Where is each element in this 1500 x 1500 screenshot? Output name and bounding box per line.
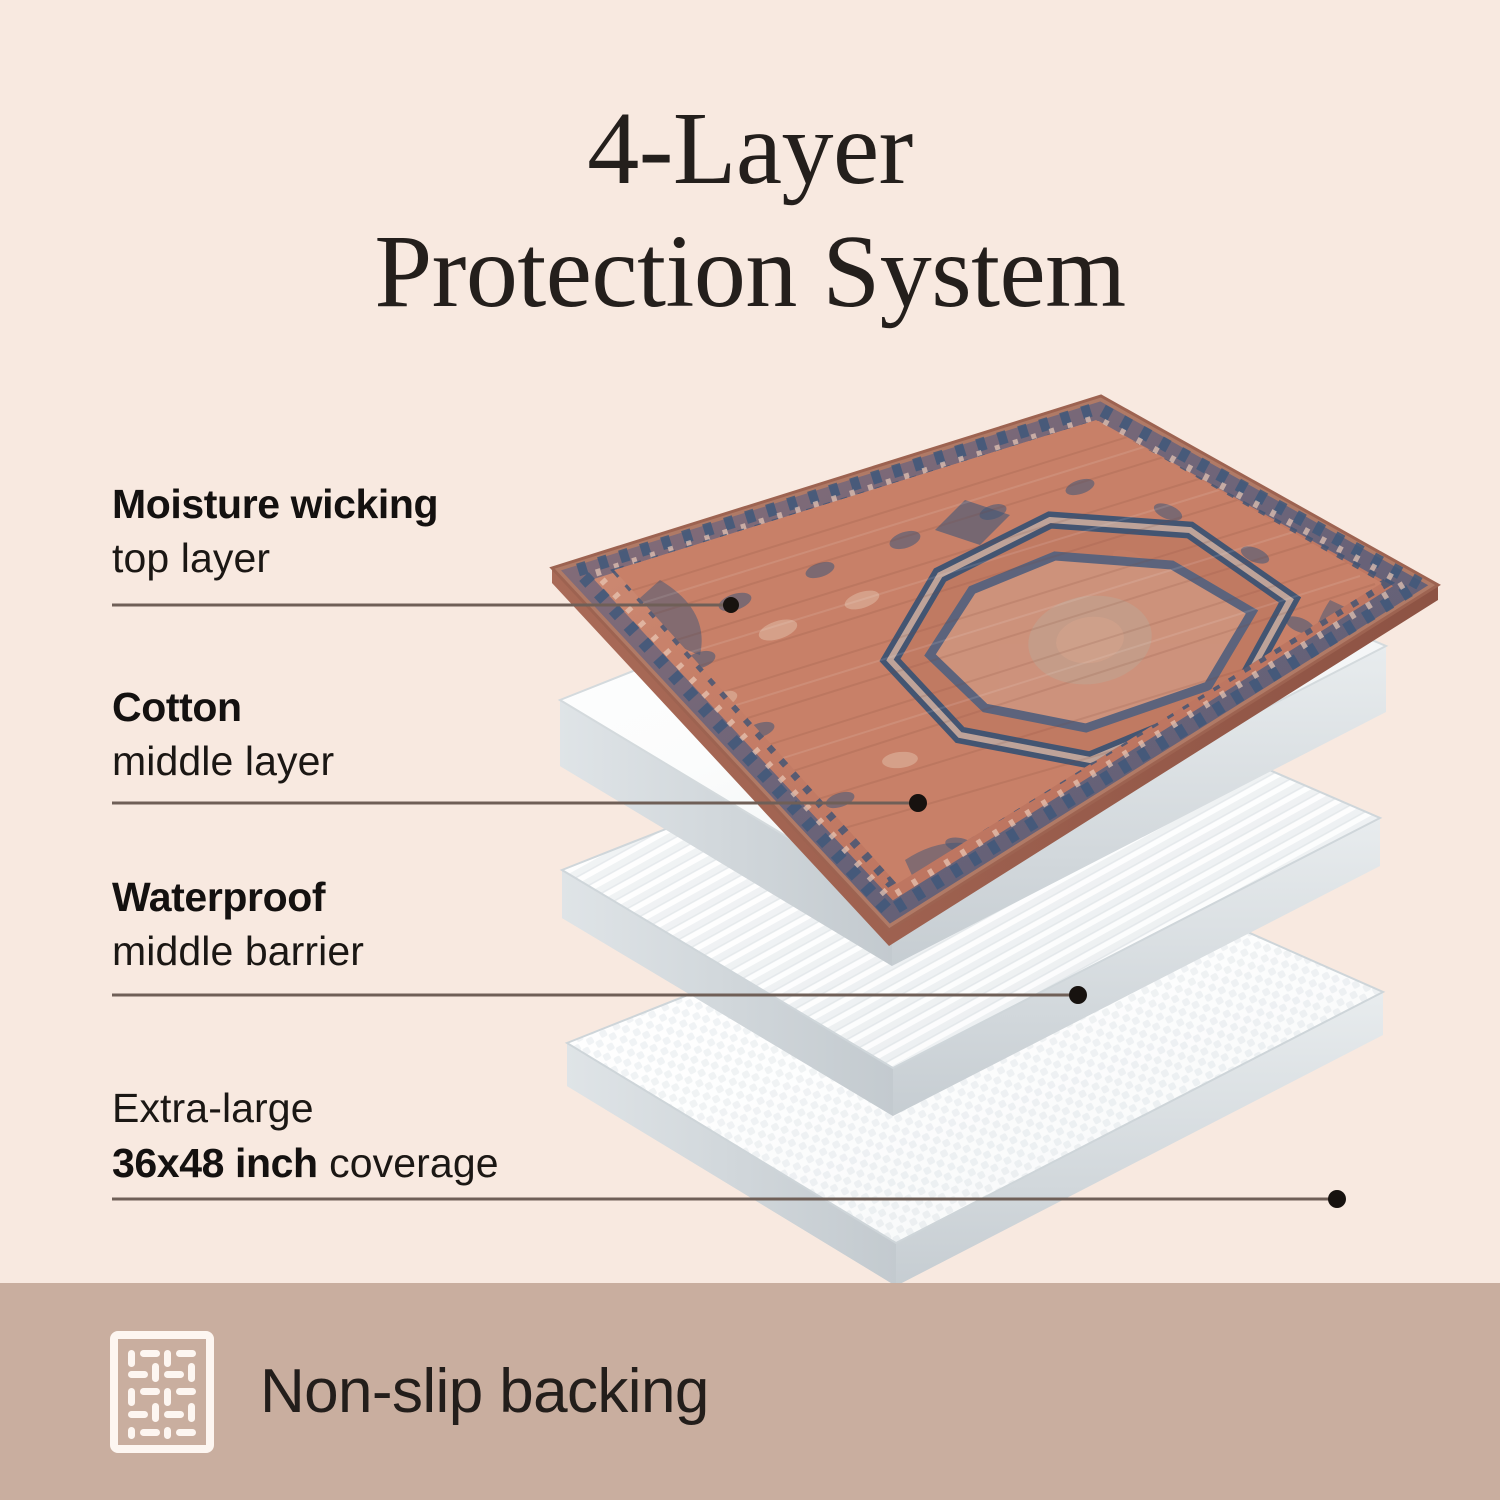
leader-line-moisture-wicking <box>112 597 739 613</box>
callout-extra-large: Extra-large 36x48 inch coverage <box>112 1078 752 1188</box>
rug-medallion <box>890 500 1290 805</box>
leader-line-cotton <box>112 794 927 812</box>
callout-size-value: 36x48 inch <box>112 1140 318 1186</box>
callout-subtitle-extra-large: 36x48 inch coverage <box>112 1139 752 1188</box>
callout-title-cotton: Cotton <box>112 685 752 731</box>
callout-cotton: Cotton middle layer <box>112 685 752 786</box>
page-title: 4-Layer Protection System <box>0 88 1500 333</box>
non-slip-backing-label: Non-slip backing <box>260 1356 709 1427</box>
non-slip-weave-icon <box>110 1331 214 1453</box>
page-title-line-1: 4-Layer <box>0 88 1500 211</box>
callout-title-moisture-wicking: Moisture wicking <box>112 482 752 528</box>
product-feature-graphic: 4-Layer Protection System <box>0 0 1500 1500</box>
rug-top-layer <box>552 396 1438 946</box>
callout-subtitle-moisture-wicking: top layer <box>112 534 752 583</box>
page-title-line-2: Protection System <box>0 211 1500 334</box>
callout-subtitle-waterproof: middle barrier <box>112 927 752 976</box>
callout-moisture-wicking: Moisture wicking top layer <box>112 482 752 583</box>
non-slip-backing-bar: Non-slip backing <box>0 1283 1500 1500</box>
callout-title-waterproof: Waterproof <box>112 875 752 921</box>
callout-waterproof: Waterproof middle barrier <box>112 875 752 976</box>
leader-line-extra-large <box>112 1190 1346 1208</box>
leader-line-waterproof <box>112 986 1087 1004</box>
callout-subtitle-cotton: middle layer <box>112 737 752 786</box>
callout-title-extra-large: Extra-large <box>112 1084 752 1133</box>
callout-coverage-word: coverage <box>318 1140 499 1186</box>
